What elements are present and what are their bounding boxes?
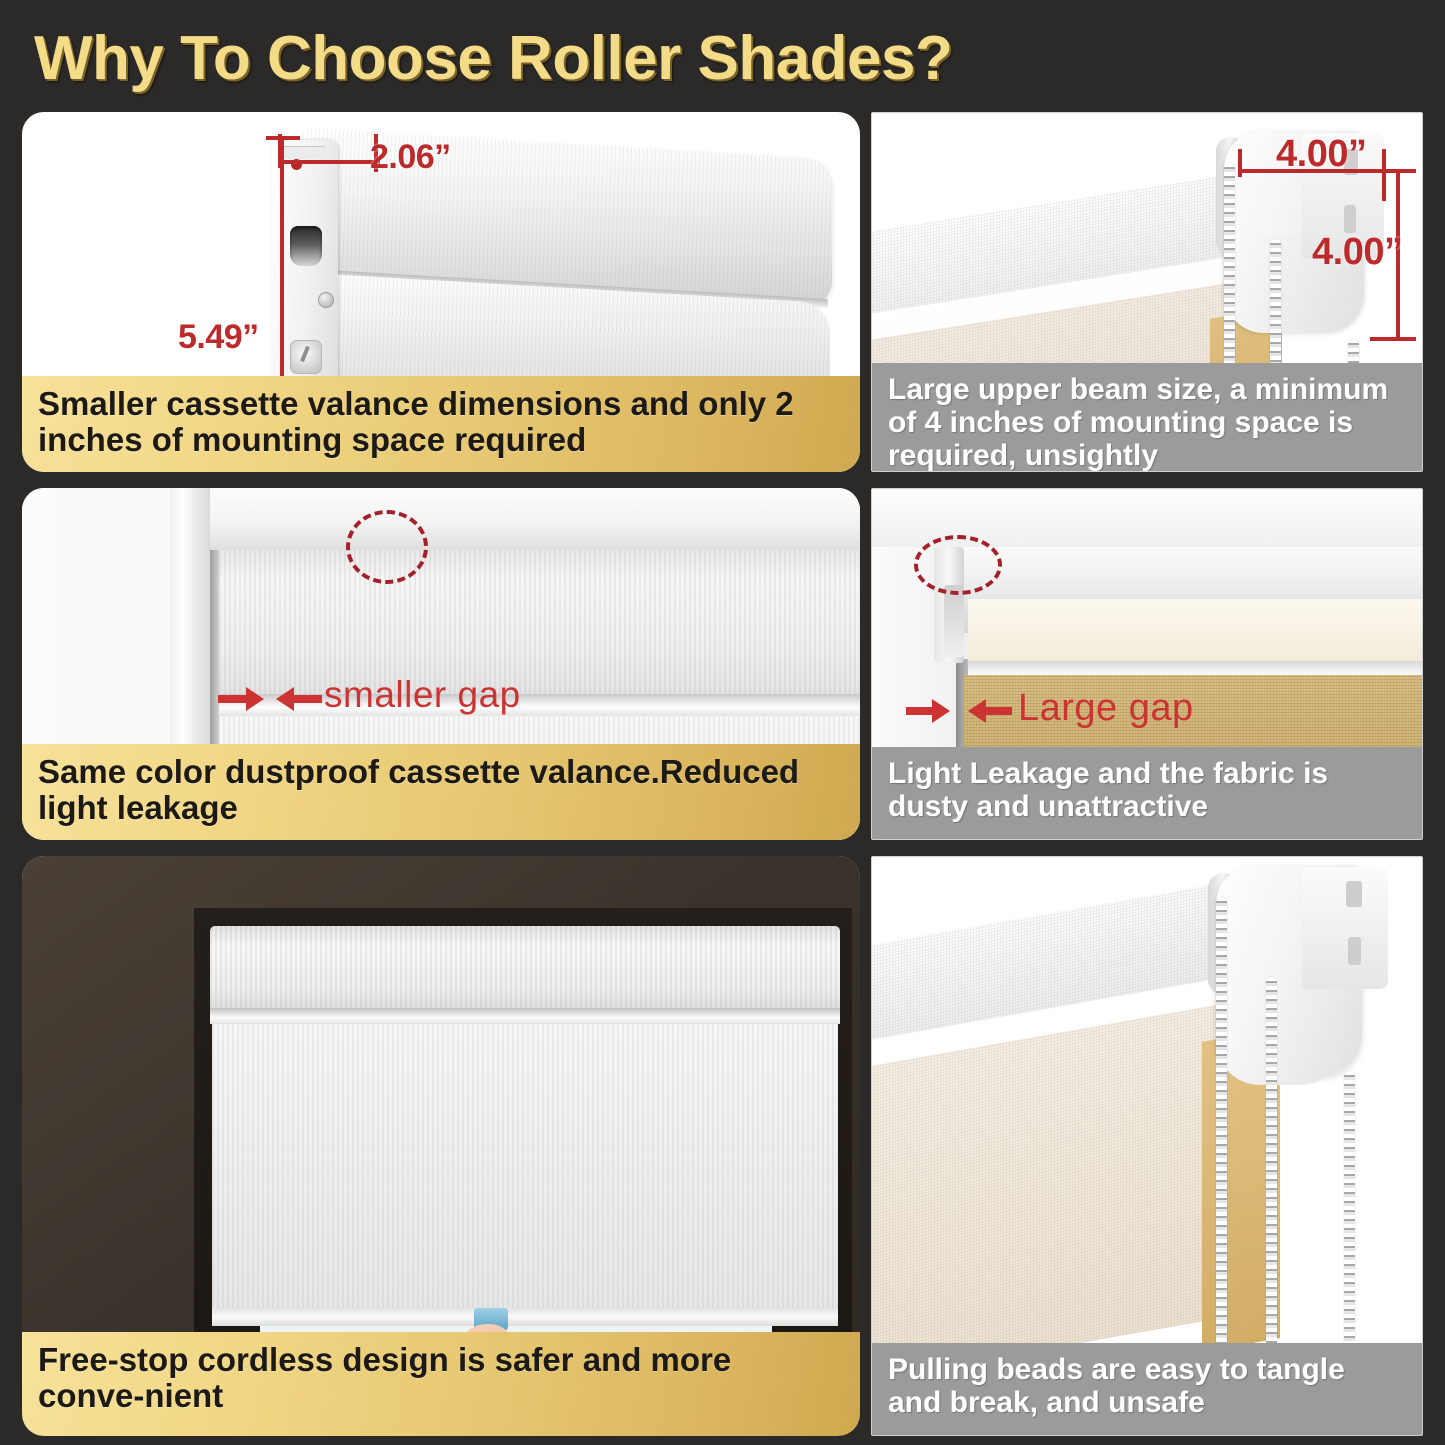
bottom-rail [212, 1308, 838, 1326]
end-cap-tab [280, 146, 326, 159]
bead-chain-left[interactable] [1216, 897, 1227, 1347]
height-dimension-label: 5.49” [178, 318, 259, 357]
width-dimension-label: 2.06” [370, 138, 451, 177]
bracket-mounting-plate [1302, 867, 1388, 989]
gap-label-large: Large gap [1018, 687, 1194, 730]
panel-1-caption: Smaller cassette valance dimensions and … [22, 376, 860, 472]
bracket-slot-lower [1344, 205, 1356, 233]
beam-width-tick-left [1238, 149, 1242, 177]
panel-light-leakage: Large gap Light Leakage and the fabric i… [871, 488, 1423, 840]
panel-2-caption: Large upper beam size, a minimum of 4 in… [872, 363, 1422, 471]
width-dim-line [280, 160, 380, 164]
panel-4-caption: Light Leakage and the fabric is dusty an… [872, 747, 1422, 839]
window-frame-top [170, 488, 860, 554]
end-cap-screw-upper [318, 292, 334, 308]
valance-bottom-lip [210, 1008, 840, 1024]
beam-width-tick-right [1382, 149, 1386, 201]
page-title: Why To Choose Roller Shades? [34, 20, 1414, 98]
beam-height-tick-top [1380, 169, 1416, 173]
dashed-highlight-circle [914, 535, 1002, 595]
bracket-slot-upper [1346, 881, 1362, 907]
bracket-clip [944, 585, 964, 657]
cassette-valance-illustration [272, 140, 832, 390]
beam-bottom-lip [964, 661, 1423, 675]
panel-dustproof-valance: smaller gap Same color dustproof cassett… [22, 488, 860, 840]
beam-width-label: 4.00” [1276, 133, 1366, 176]
height-dim-tick-top [266, 136, 300, 140]
cassette-valance [210, 926, 840, 1012]
bracket-lower-hub [1216, 985, 1344, 1085]
dashed-highlight-circle [346, 510, 428, 584]
panel-large-upper-beam: 4.00” 4.00” Large upper beam size, a min… [871, 112, 1423, 472]
beam-height-label: 4.00” [1312, 231, 1402, 274]
panel-6-caption: Pulling beads are easy to tangle and bre… [872, 1343, 1422, 1435]
panel-smaller-cassette: 2.06” 5.49” Smaller cassette valance dim… [22, 112, 860, 472]
bead-chain-right[interactable] [1344, 1071, 1355, 1347]
shade-fabric [212, 1024, 838, 1318]
beam-valance-face [968, 599, 1423, 665]
panel-cordless-design: Free-stop cordless design is safer and m… [22, 856, 860, 1436]
gap-arrow-left-icon [906, 697, 950, 725]
cassette-valance [214, 550, 860, 698]
gap-arrow-right-icon [968, 697, 1012, 725]
beam-height-tick-bottom [1370, 337, 1416, 341]
bead-chain-middle[interactable] [1266, 977, 1277, 1347]
panel-3-caption: Same color dustproof cassette valance.Re… [22, 744, 860, 840]
gap-arrow-right-icon [276, 684, 322, 714]
end-cap-slot [290, 226, 322, 266]
gap-label-smaller: smaller gap [324, 674, 521, 716]
end-cap-screw-lower [290, 340, 322, 374]
gap-arrow-left-icon [218, 684, 264, 714]
bracket-slot-lower [1348, 937, 1361, 965]
panel-5-caption: Free-stop cordless design is safer and m… [22, 1332, 860, 1436]
panel-pulling-beads: Pulling beads are easy to tangle and bre… [871, 856, 1423, 1436]
